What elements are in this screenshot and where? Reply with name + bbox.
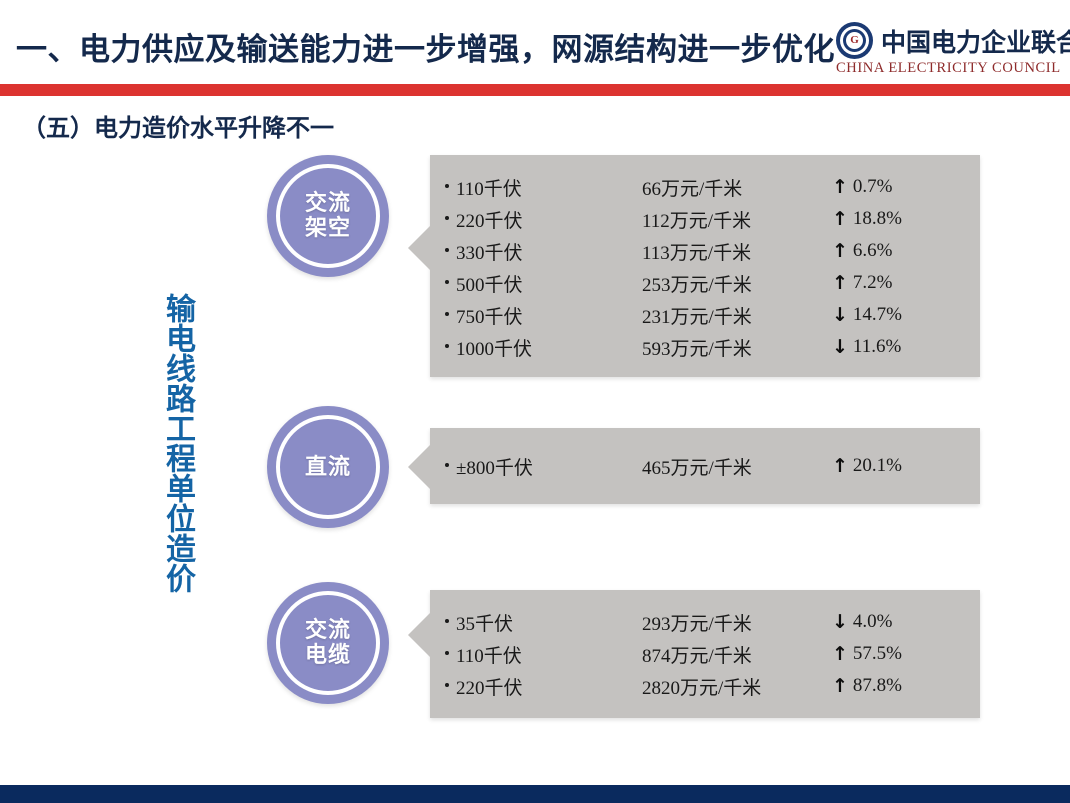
row-price: 113万元/千米 [642,238,832,265]
table-row: 220千伏 2820万元/千米 ↑87.8% [445,670,980,702]
footer-bar [0,785,1070,803]
cec-logo: G 中国电力企业联合会 CHINA ELECTRICITY COUNCIL [836,22,1064,80]
row-change: 14.7% [853,304,902,326]
row-change: 7.2% [853,272,893,294]
trend-arrow-icon: ↓ [832,613,848,632]
bullet-icon [445,619,449,623]
section-title: （五）电力造价水平升降不一 [22,108,334,143]
bullet-icon [445,216,449,220]
row-change-cell: ↑0.7% [832,176,893,198]
row-list: ±800千伏 465万元/千米 ↑20.1% [430,428,980,482]
row-price: 593万元/千米 [642,334,832,361]
bullet-icon [445,248,449,252]
row-change-cell: ↓4.0% [832,611,893,633]
row-voltage: 110千伏 [456,641,522,668]
logo-row: G 中国电力企业联合会 [836,22,1070,59]
table-row: 35千伏 293万元/千米 ↓4.0% [445,606,980,638]
row-change: 20.1% [853,455,902,477]
bullet-icon [445,184,449,188]
bullet-icon [445,312,449,316]
circle-label-line1: 交流 [305,618,351,643]
table-row: 750千伏 231万元/千米 ↓14.7% [445,299,980,331]
callout-ac-cable: 35千伏 293万元/千米 ↓4.0% 110千伏 874万元/千米 ↑57.5… [430,590,980,718]
logo-core: G [846,32,863,49]
page-title: 一、电力供应及输送能力进一步增强，网源结构进一步优化 [16,24,835,69]
row-change: 11.6% [853,336,901,358]
circle-label-line1: 直流 [305,455,351,480]
row-voltage: 110千伏 [456,174,522,201]
row-change: 57.5% [853,643,902,665]
callout-dc: ±800千伏 465万元/千米 ↑20.1% [430,428,980,504]
circle-label-dc: 直流 [305,455,351,480]
logo-monogram: G [850,35,859,46]
row-voltage: 220千伏 [456,673,523,700]
slide-root: 一、电力供应及输送能力进一步增强，网源结构进一步优化 G 中国电力企业联合会 C… [0,0,1070,803]
row-voltage-cell: 750千伏 [445,302,642,329]
row-change: 87.8% [853,675,902,697]
trend-arrow-icon: ↑ [832,178,848,197]
trend-arrow-icon: ↑ [832,242,848,261]
trend-arrow-icon: ↑ [832,274,848,293]
row-voltage-cell: 330千伏 [445,238,642,265]
row-change: 6.6% [853,240,893,262]
row-voltage: 35千伏 [456,609,513,636]
row-price: 2820万元/千米 [642,673,832,700]
table-row: 220千伏 112万元/千米 ↑18.8% [445,203,980,235]
circle-label-ac-overhead: 交流 架空 [305,191,351,240]
row-voltage-cell: 500千伏 [445,270,642,297]
logo-name-cn: 中国电力企业联合会 [881,23,1070,59]
row-change-cell: ↑20.1% [832,455,902,477]
row-price: 874万元/千米 [642,641,832,668]
circle-dc[interactable]: 直流 [267,406,389,528]
row-voltage-cell: 220千伏 [445,673,642,700]
row-list: 110千伏 66万元/千米 ↑0.7% 220千伏 112万元/千米 ↑18.8… [430,155,980,363]
row-voltage-cell: 220千伏 [445,206,642,233]
trend-arrow-icon: ↑ [832,645,848,664]
trend-arrow-icon: ↑ [832,677,848,696]
row-voltage: 750千伏 [456,302,523,329]
row-price: 293万元/千米 [642,609,832,636]
circle-label-line1: 交流 [305,191,351,216]
row-change: 18.8% [853,208,902,230]
trend-arrow-icon: ↑ [832,210,848,229]
row-voltage: 500千伏 [456,270,523,297]
row-list: 35千伏 293万元/千米 ↓4.0% 110千伏 874万元/千米 ↑57.5… [430,590,980,702]
row-change: 0.7% [853,176,893,198]
table-row: ±800千伏 465万元/千米 ↑20.1% [445,450,980,482]
row-price: 231万元/千米 [642,302,832,329]
row-voltage-cell: 1000千伏 [445,334,642,361]
trend-arrow-icon: ↓ [832,306,848,325]
row-voltage: 330千伏 [456,238,523,265]
circle-label-ac-cable: 交流 电缆 [305,618,351,667]
row-voltage-cell: 35千伏 [445,609,642,636]
row-voltage: ±800千伏 [456,453,533,480]
table-row: 1000千伏 593万元/千米 ↓11.6% [445,331,980,363]
row-change-cell: ↓14.7% [832,304,902,326]
row-change-cell: ↑18.8% [832,208,902,230]
trend-arrow-icon: ↑ [832,457,848,476]
table-row: 500千伏 253万元/千米 ↑7.2% [445,267,980,299]
table-row: 110千伏 874万元/千米 ↑57.5% [445,638,980,670]
row-change: 4.0% [853,611,893,633]
table-row: 330千伏 113万元/千米 ↑6.6% [445,235,980,267]
row-price: 465万元/千米 [642,453,832,480]
slide-header: 一、电力供应及输送能力进一步增强，网源结构进一步优化 G 中国电力企业联合会 C… [0,0,1070,84]
row-voltage: 1000千伏 [456,334,532,361]
row-voltage-cell: 110千伏 [445,174,642,201]
circle-ac-overhead[interactable]: 交流 架空 [267,155,389,277]
vertical-axis-label: 输电线路工程单位造价 [152,293,192,593]
circle-label-line2: 电缆 [305,643,351,668]
bullet-icon [445,280,449,284]
circle-label-line2: 架空 [305,216,351,241]
row-voltage-cell: ±800千伏 [445,453,642,480]
cec-emblem-icon: G [836,22,873,59]
table-row: 110千伏 66万元/千米 ↑0.7% [445,171,980,203]
row-change-cell: ↑6.6% [832,240,893,262]
callout-arrow-icon [408,613,430,657]
header-red-divider [0,84,1070,96]
row-price: 253万元/千米 [642,270,832,297]
row-change-cell: ↓11.6% [832,336,901,358]
row-price: 112万元/千米 [642,206,832,233]
bullet-icon [445,651,449,655]
circle-ac-cable[interactable]: 交流 电缆 [267,582,389,704]
trend-arrow-icon: ↓ [832,338,848,357]
bullet-icon [445,683,449,687]
row-voltage-cell: 110千伏 [445,641,642,668]
bullet-icon [445,344,449,348]
callout-arrow-icon [408,226,430,270]
row-voltage: 220千伏 [456,206,523,233]
row-price: 66万元/千米 [642,174,832,201]
callout-ac-overhead: 110千伏 66万元/千米 ↑0.7% 220千伏 112万元/千米 ↑18.8… [430,155,980,377]
callout-arrow-icon [408,445,430,489]
row-change-cell: ↑7.2% [832,272,893,294]
row-change-cell: ↑57.5% [832,643,902,665]
logo-name-en: CHINA ELECTRICITY COUNCIL [836,60,1061,77]
row-change-cell: ↑87.8% [832,675,902,697]
bullet-icon [445,463,449,467]
